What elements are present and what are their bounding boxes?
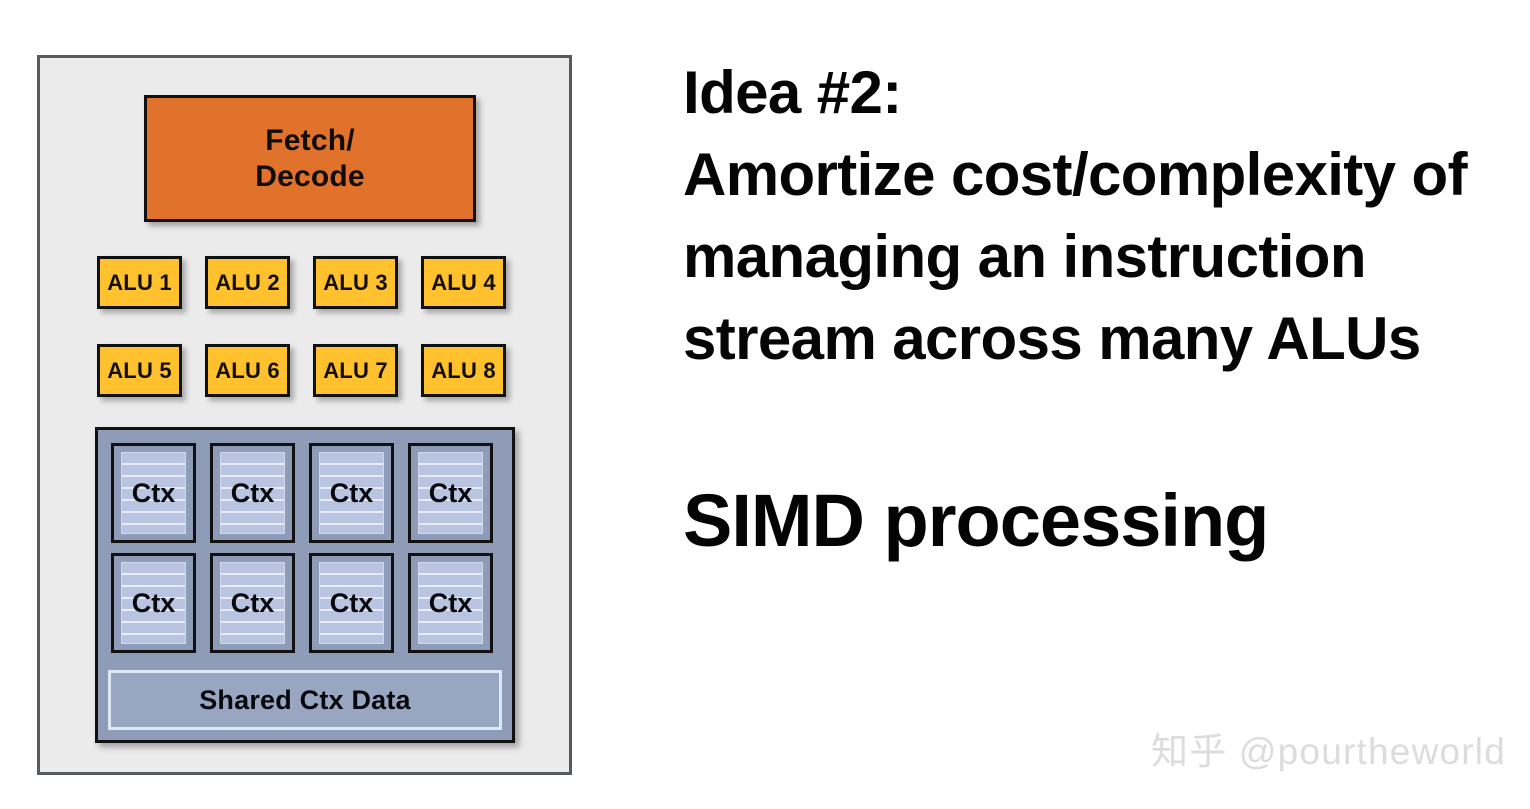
- ctx-label: Ctx: [429, 478, 473, 509]
- alu-box-5: ALU 5: [97, 344, 182, 397]
- ctx-box-5: Ctx: [111, 553, 196, 653]
- alu-box-4: ALU 4: [421, 256, 506, 309]
- ctx-label: Ctx: [429, 588, 473, 619]
- ctx-box-7: Ctx: [309, 553, 394, 653]
- ctx-label: Ctx: [330, 588, 374, 619]
- headline-line-1: Idea #2:: [683, 52, 1523, 134]
- alu-box-6: ALU 6: [205, 344, 290, 397]
- ctx-label: Ctx: [231, 478, 275, 509]
- headline-line-2: Amortize cost/complexity of: [683, 134, 1523, 216]
- gpu-core-block: Fetch/ Decode ALU 1 ALU 2 ALU 3 ALU 4 AL…: [37, 55, 572, 775]
- alu-label: ALU 3: [323, 270, 388, 296]
- alu-box-2: ALU 2: [205, 256, 290, 309]
- alu-grid: ALU 1 ALU 2 ALU 3 ALU 4 ALU 5 ALU 6 ALU …: [97, 256, 547, 403]
- ctx-box-4: Ctx: [408, 443, 493, 543]
- headline-line-4: stream across many ALUs: [683, 298, 1523, 380]
- fetch-decode-block: Fetch/ Decode: [144, 95, 476, 222]
- zhihu-watermark: 知乎 @pourtheworld: [1151, 721, 1506, 775]
- alu-label: ALU 8: [431, 358, 496, 384]
- headline-line-3: managing an instruction: [683, 216, 1523, 298]
- slide-headline: Idea #2: Amortize cost/complexity of man…: [683, 52, 1523, 380]
- ctx-label: Ctx: [231, 588, 275, 619]
- shared-ctx-data-bar: Shared Ctx Data: [108, 670, 502, 730]
- alu-label: ALU 7: [323, 358, 388, 384]
- ctx-label: Ctx: [132, 588, 176, 619]
- alu-label: ALU 6: [215, 358, 280, 384]
- ctx-box-3: Ctx: [309, 443, 394, 543]
- ctx-label: Ctx: [330, 478, 374, 509]
- ctx-label: Ctx: [132, 478, 176, 509]
- alu-box-3: ALU 3: [313, 256, 398, 309]
- shared-ctx-data-label: Shared Ctx Data: [199, 685, 411, 716]
- ctx-box-8: Ctx: [408, 553, 493, 653]
- alu-label: ALU 2: [215, 270, 280, 296]
- ctx-box-6: Ctx: [210, 553, 295, 653]
- alu-box-8: ALU 8: [421, 344, 506, 397]
- ctx-box-1: Ctx: [111, 443, 196, 543]
- alu-label: ALU 4: [431, 270, 496, 296]
- context-storage-region: Ctx Ctx Ctx Ctx Ctx Ctx Ctx Ctx: [95, 427, 515, 743]
- fetch-decode-line-1: Fetch/: [265, 123, 355, 158]
- fetch-decode-line-2: Decode: [255, 159, 365, 194]
- ctx-box-2: Ctx: [210, 443, 295, 543]
- alu-label: ALU 5: [107, 358, 172, 384]
- simd-processing-title: SIMD processing: [683, 478, 1268, 563]
- alu-label: ALU 1: [107, 270, 172, 296]
- alu-box-7: ALU 7: [313, 344, 398, 397]
- alu-box-1: ALU 1: [97, 256, 182, 309]
- slide-text-column: Idea #2: Amortize cost/complexity of man…: [683, 52, 1523, 380]
